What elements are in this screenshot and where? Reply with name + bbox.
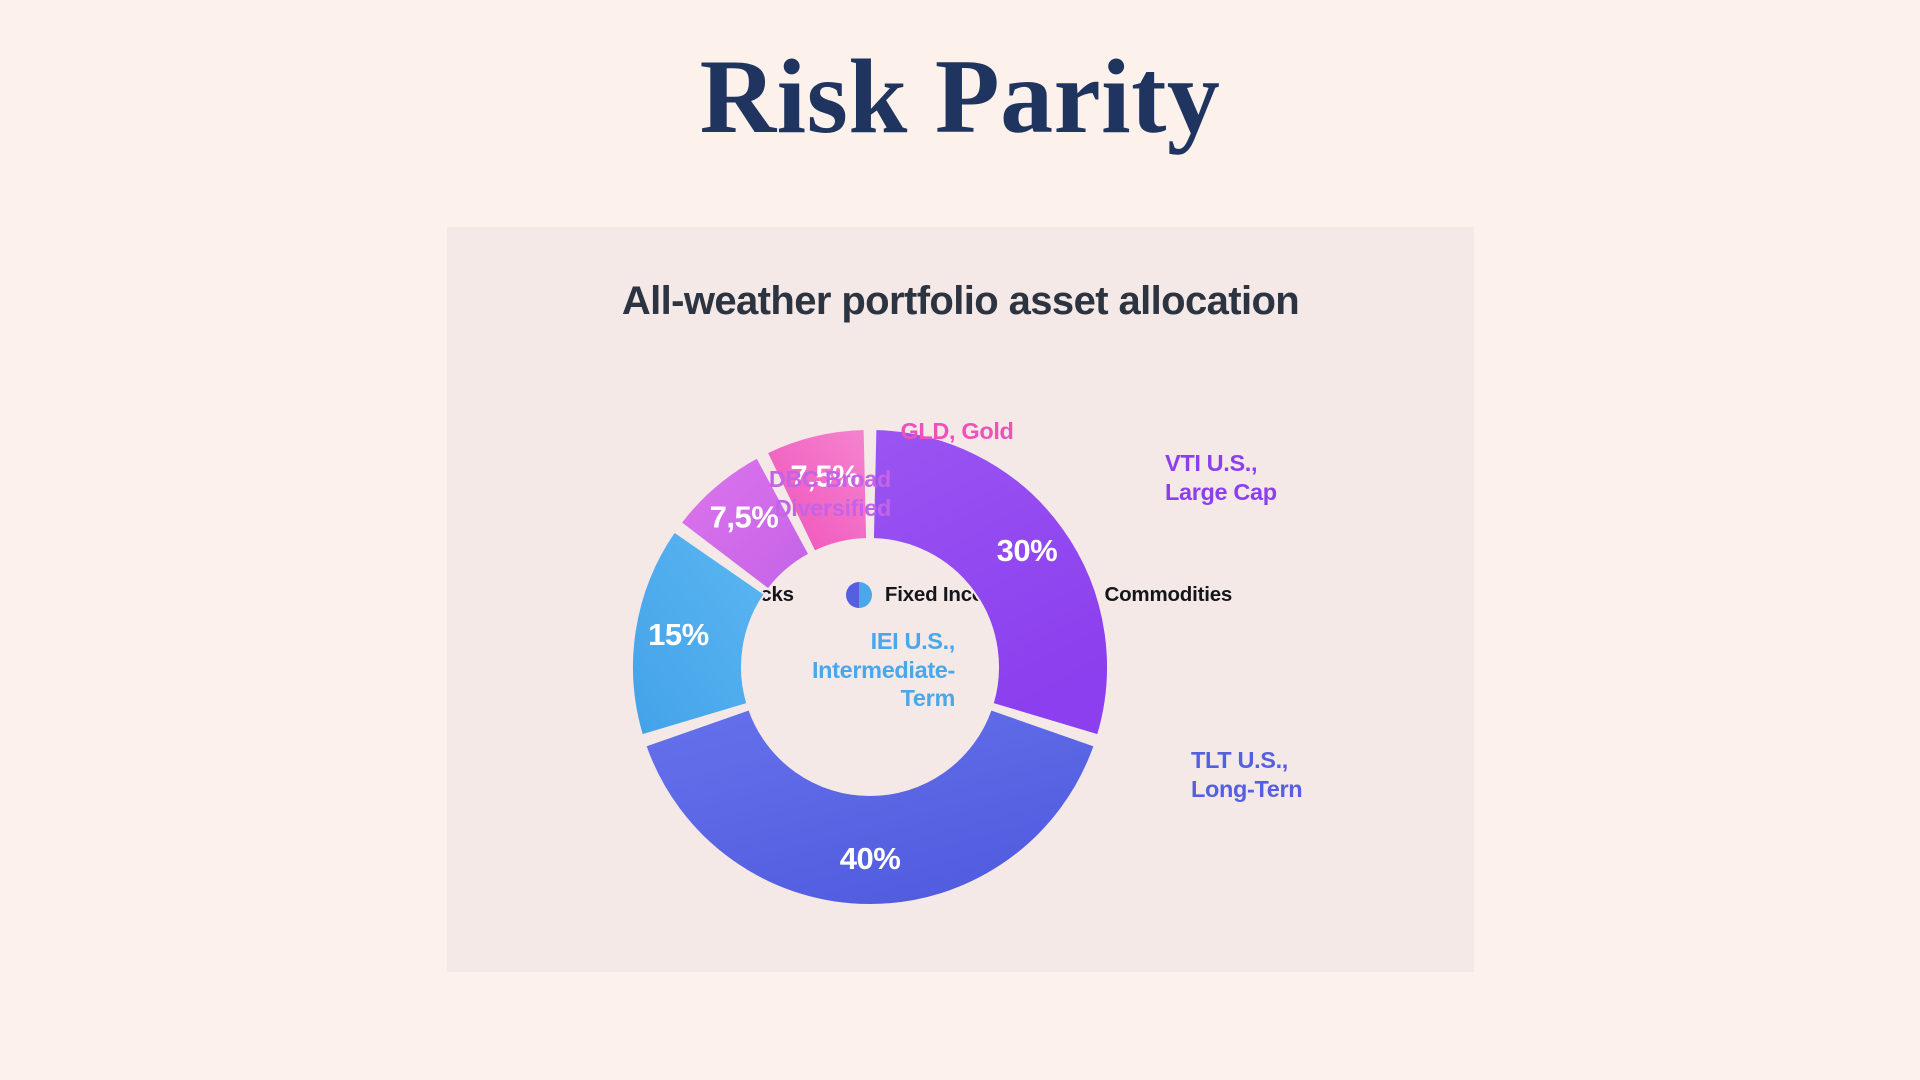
slice-callout-dbc: DBC Broad Diversified	[625, 465, 891, 522]
legend-label-commodities: Commodities	[1104, 583, 1232, 607]
slice-value-iei: 15%	[648, 617, 709, 652]
slice-callout-iei: IEI U.S., Intermediate- Term	[725, 627, 955, 713]
slice-callout-gld: GLD, Gold	[807, 417, 1107, 446]
slice-callout-vti: VTI U.S., Large Cap	[1165, 449, 1277, 506]
slice-callout-tlt: TLT U.S., Long-Tern	[1191, 746, 1302, 803]
chart-title: All-weather portfolio asset allocation	[447, 279, 1474, 324]
chart-card: All-weather portfolio asset allocation S…	[447, 227, 1474, 972]
page-title: Risk Parity	[0, 38, 1920, 157]
slice-value-vti: 30%	[997, 533, 1058, 568]
slice-value-tlt: 40%	[840, 841, 901, 876]
